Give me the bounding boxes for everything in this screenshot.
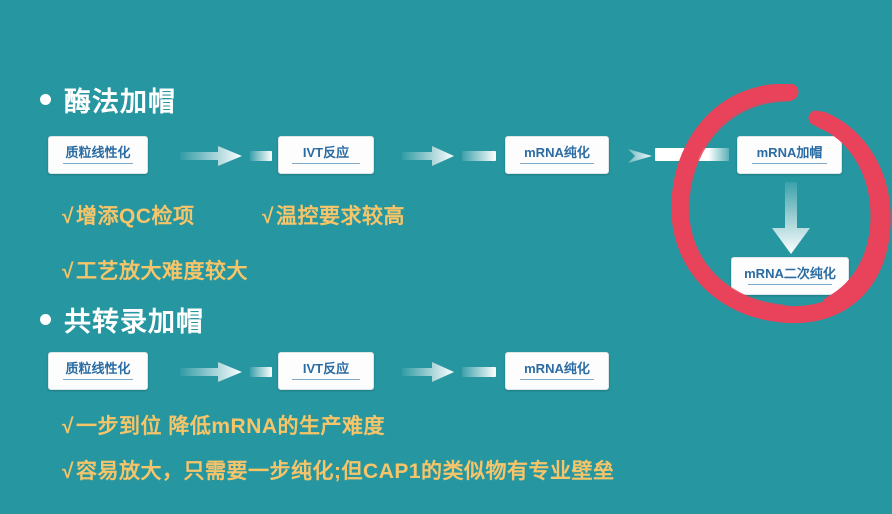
note-text: 工艺放大难度较大 (76, 260, 248, 283)
check-tick-icon: √ (262, 205, 274, 228)
check-tick-icon: √ (62, 415, 74, 438)
flow-arrow-right-4 (180, 362, 242, 382)
slide-canvas: 酶法加帽 质粒线性化 IVT反应 (0, 0, 892, 514)
section-title-text: 酶法加帽 (64, 80, 176, 119)
flow-box-underline (63, 379, 134, 380)
note-text: 增添QC检项 (76, 205, 195, 228)
section-title-text: 共转录加帽 (64, 300, 204, 339)
flow-box-label: mRNA二次纯化 (744, 267, 836, 280)
note-text: 容易放大，只需要一步纯化;但CAP1的类似物有专业壁垒 (76, 460, 615, 483)
flow-box-underline (752, 163, 826, 164)
flow-box-label: IVT反应 (303, 362, 349, 375)
flow-box-label: 质粒线性化 (65, 362, 130, 375)
note-item-cap1: √容易放大，只需要一步纯化;但CAP1的类似物有专业壁垒 (62, 455, 615, 485)
check-tick-icon: √ (62, 460, 74, 483)
note-item-one-step: √一步到位 降低mRNA的生产难度 (62, 410, 385, 440)
check-tick-icon: √ (62, 260, 74, 283)
flow-arrow-right-3 (628, 148, 652, 168)
flow-arrow-dash-3 (655, 148, 729, 161)
note-text: 温控要求较高 (276, 205, 405, 228)
flow-arrow-dash-1 (250, 151, 272, 161)
section-heading-enzymatic: 酶法加帽 (40, 80, 176, 119)
flow-box-plasmid-linearization-2[interactable]: 质粒线性化 (48, 352, 148, 390)
flow-arrow-dash-2 (462, 151, 496, 161)
flow-box-underline (63, 163, 134, 164)
flow-box-mrna-capping[interactable]: mRNA加帽 (737, 136, 842, 174)
flow-box-label: IVT反应 (303, 146, 349, 159)
flow-arrow-right-2 (402, 146, 454, 166)
flow-box-underline (748, 284, 832, 285)
flow-box-label: 质粒线性化 (65, 146, 130, 159)
flow-box-underline (292, 163, 360, 164)
flow-arrow-right-1 (180, 146, 242, 166)
bullet-dot-icon (40, 94, 51, 105)
note-item-scaleup: √工艺放大难度较大 (62, 255, 248, 285)
flow-box-label: mRNA加帽 (757, 146, 823, 159)
flow-box-underline (520, 163, 593, 164)
flow-arrow-down (772, 182, 810, 254)
bullet-dot-icon (40, 314, 51, 325)
flow-arrow-right-5 (402, 362, 454, 382)
flow-box-mrna-purification[interactable]: mRNA纯化 (505, 136, 609, 174)
flow-box-plasmid-linearization[interactable]: 质粒线性化 (48, 136, 148, 174)
flow-box-underline (292, 379, 360, 380)
check-tick-icon: √ (62, 205, 74, 228)
flow-box-underline (520, 379, 593, 380)
flow-box-label: mRNA纯化 (524, 146, 590, 159)
flow-box-ivt-reaction-2[interactable]: IVT反应 (278, 352, 374, 390)
section-heading-cotranscriptional: 共转录加帽 (40, 300, 204, 339)
flow-box-label: mRNA纯化 (524, 362, 590, 375)
flow-arrow-dash-4 (250, 367, 272, 377)
flow-box-mrna-purification-2[interactable]: mRNA纯化 (505, 352, 609, 390)
note-text: 一步到位 降低mRNA的生产难度 (76, 415, 385, 438)
note-item-qc: √增添QC检项 (62, 200, 195, 230)
flow-arrow-dash-5 (462, 367, 496, 377)
flow-box-ivt-reaction[interactable]: IVT反应 (278, 136, 374, 174)
note-item-temperature: √温控要求较高 (262, 200, 405, 230)
flow-box-mrna-second-purification[interactable]: mRNA二次纯化 (731, 257, 849, 295)
